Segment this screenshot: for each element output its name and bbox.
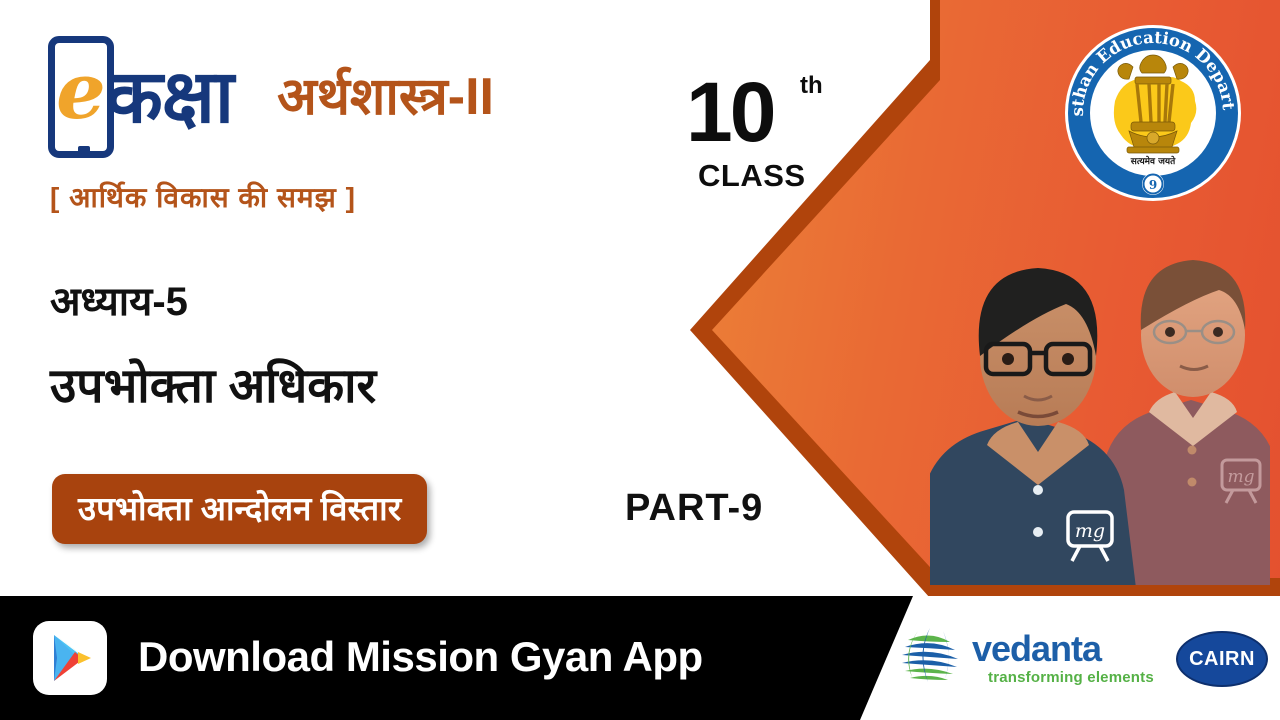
google-play-icon[interactable] [33, 621, 107, 695]
subject-tagline: [ आर्थिक विकास की समझ ] [50, 178, 356, 216]
vedanta-globe-icon [896, 622, 964, 690]
logo-wordmark: कक्षा [106, 60, 233, 134]
class-number: 10 [686, 70, 773, 154]
chapter-number: अध्याय-5 [50, 272, 188, 327]
smartphone-icon: e [48, 36, 114, 158]
topic-badge: उपभोक्ता आन्दोलन विस्तार [52, 474, 427, 544]
presenters-photo: mg [930, 160, 1270, 585]
brand-logo: e कक्षा अर्थशास्त्र-II [48, 36, 494, 158]
chapter-title: उपभोक्ता अधिकार [50, 352, 376, 417]
class-badge: 10 th CLASS [672, 36, 844, 208]
emblem-motto: सत्यमेव जयते [1130, 155, 1176, 167]
class-ordinal: th [800, 72, 823, 100]
svg-text:mg: mg [1227, 467, 1254, 487]
vedanta-logo: vedanta transforming elements [896, 622, 1166, 698]
rajasthan-education-department-emblem: Rajasthan Education Department सत्यमेव ज… [1063, 23, 1243, 203]
class-label: CLASS [698, 158, 806, 194]
presenter-left: mg [930, 268, 1136, 585]
subject-title: अर्थशास्त्र-II [277, 71, 494, 123]
svg-text:9: 9 [1149, 178, 1157, 192]
svg-text:mg: mg [1075, 520, 1105, 542]
download-cta-text: Download Mission Gyan App [138, 633, 703, 681]
phone-speaker-icon [66, 39, 92, 42]
logo-letter-e: e [55, 43, 107, 151]
part-number: PART-9 [625, 487, 763, 530]
cairn-wordmark: CAIRN [1176, 631, 1268, 687]
thumbnail-canvas: mg [0, 0, 1280, 720]
vedanta-tagline: transforming elements [988, 669, 1154, 686]
vedanta-wordmark: vedanta [972, 628, 1101, 670]
cairn-logo: CAIRN [1176, 631, 1268, 687]
